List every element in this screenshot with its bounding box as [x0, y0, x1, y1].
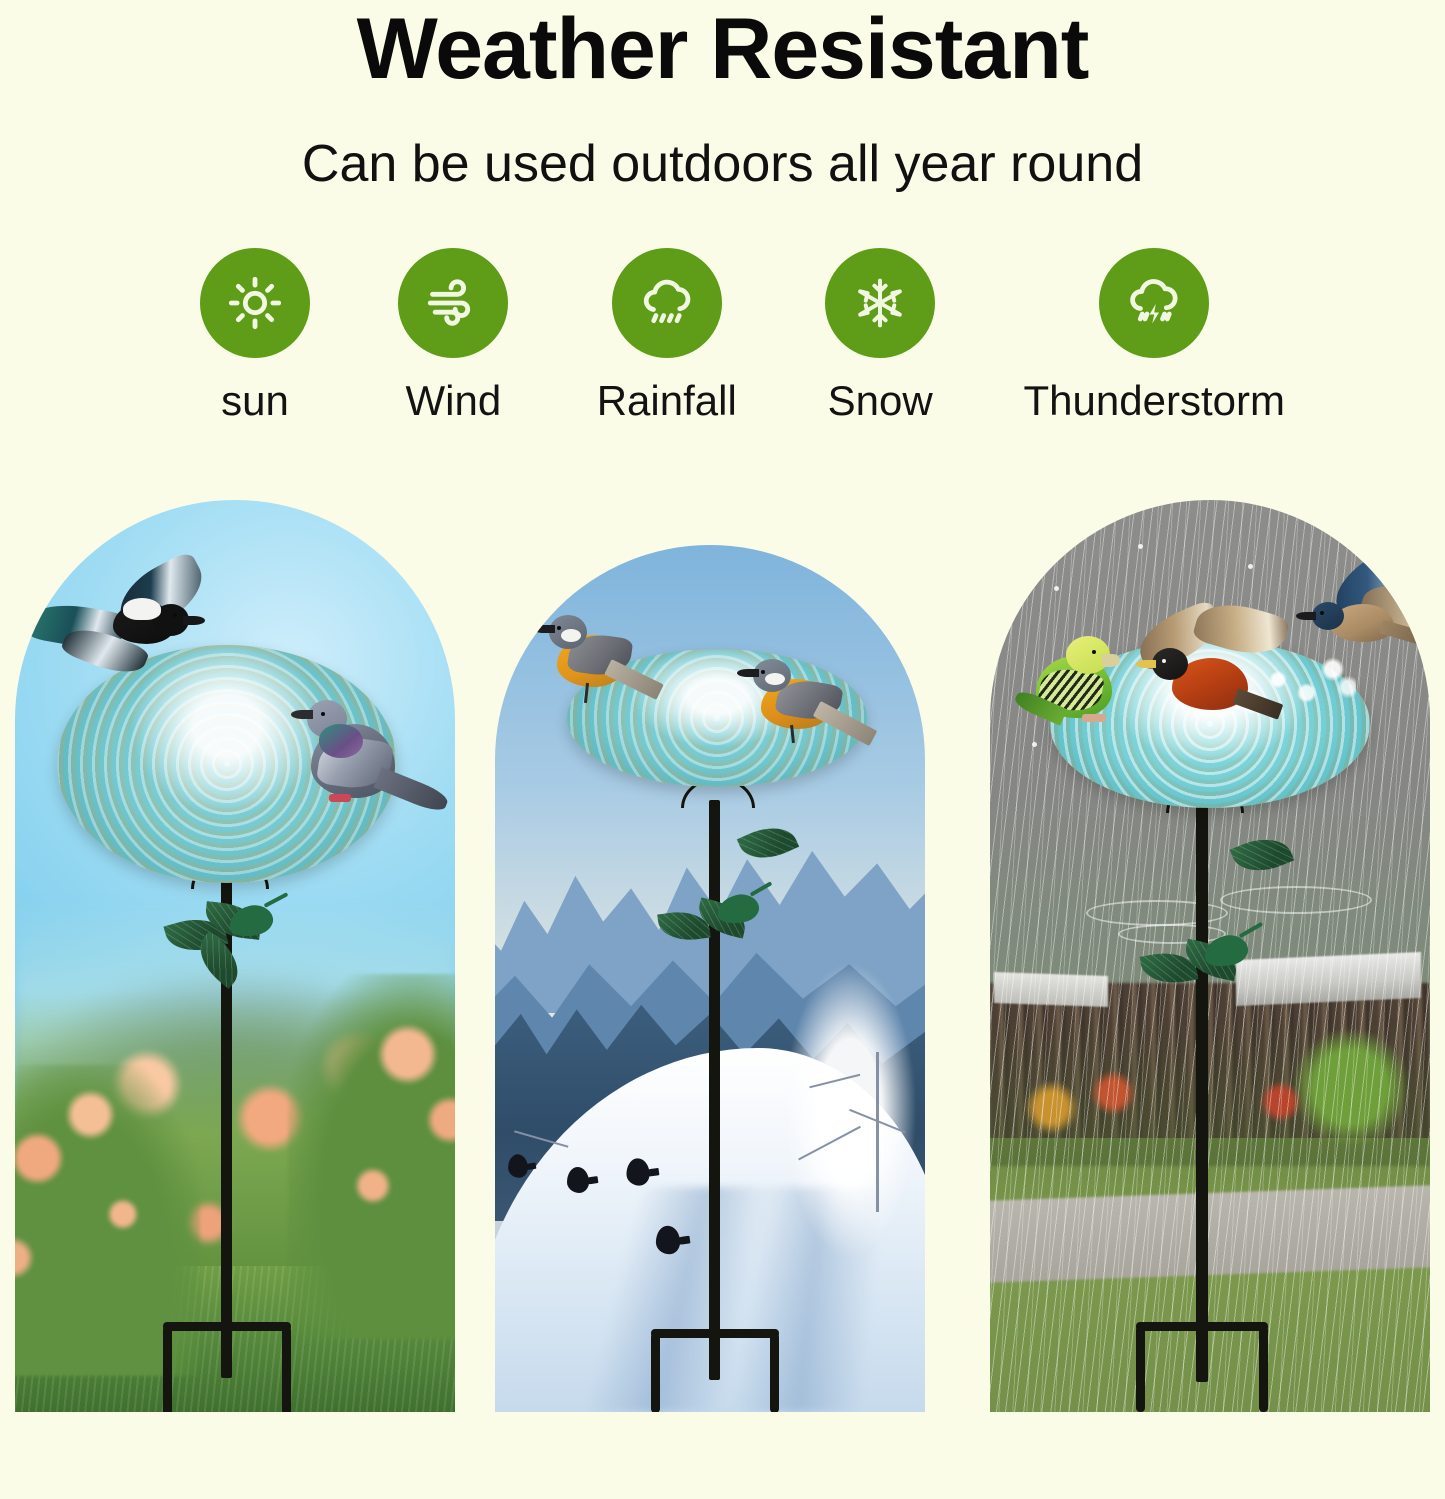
flight-beak [1296, 612, 1316, 620]
bird-cheek-patch [765, 673, 785, 685]
pigeon-feet [329, 794, 351, 802]
bird-magpie [27, 580, 207, 690]
budgie-eye [1092, 650, 1096, 654]
budgie-beak [1102, 654, 1120, 667]
stake-foot-crossbar [1136, 1322, 1268, 1331]
robin-head [1152, 648, 1188, 680]
bird-orange-breasted-left [539, 607, 669, 727]
stake-foot-left-prong [163, 1326, 172, 1412]
pigeon-tail [374, 767, 451, 815]
stake-foot-right-prong [1259, 1326, 1268, 1412]
hummingbird-beak [750, 881, 773, 896]
decorative-leaf [737, 817, 799, 868]
bird-in-flight [1306, 562, 1430, 682]
pigeon-eye [321, 712, 325, 716]
stake-foot-right-prong [282, 1326, 291, 1412]
stake-pole [1196, 800, 1208, 1382]
pigeon-beak [291, 710, 313, 719]
leaf-vein [737, 817, 799, 868]
robin-tail [1233, 688, 1284, 719]
bird-eye [761, 670, 765, 674]
bird-orange-breasted-right [747, 653, 883, 773]
bird-beak [737, 669, 759, 677]
stake-pole [709, 800, 720, 1380]
bird-eye [557, 626, 561, 630]
bird-beak [533, 625, 555, 633]
hummingbird-beak [1239, 922, 1264, 938]
decorative-leaf [1230, 829, 1295, 882]
rainy-backyard-scene [990, 500, 1430, 1412]
magpie-beak [183, 616, 205, 625]
hummingbird-beak [264, 892, 289, 908]
bird-tail [813, 701, 877, 746]
pigeon-iridescent-neck [319, 724, 363, 758]
stake-foot-right-prong [770, 1333, 779, 1412]
robin-eye [1162, 659, 1166, 663]
bird-robin-splashing [1130, 604, 1300, 744]
flight-eye [1320, 611, 1324, 615]
stake-foot-crossbar [651, 1329, 779, 1338]
flight-head [1312, 602, 1344, 630]
sunny-garden-scene [15, 500, 455, 1412]
snowy-mountain-scene [495, 545, 925, 1412]
leaf-vein [1230, 829, 1295, 882]
bird-pigeon [303, 680, 443, 840]
stake-foot-left-prong [651, 1333, 660, 1412]
scene-panel-rainy-backyard [990, 500, 1430, 1412]
stake-foot-crossbar [163, 1322, 291, 1331]
stake-foot-left-prong [1136, 1326, 1145, 1412]
bird-cheek-patch [561, 629, 581, 642]
magpie-white-collar [123, 598, 161, 620]
robin-beak [1136, 660, 1156, 668]
budgie-feet [1082, 714, 1106, 722]
magpie-eye [173, 613, 177, 617]
bird-feet [584, 683, 589, 703]
product-scene-gallery [0, 0, 1445, 1499]
scene-panel-snowy-mountain [495, 545, 925, 1412]
scene-panel-sunny-garden [15, 500, 455, 1412]
